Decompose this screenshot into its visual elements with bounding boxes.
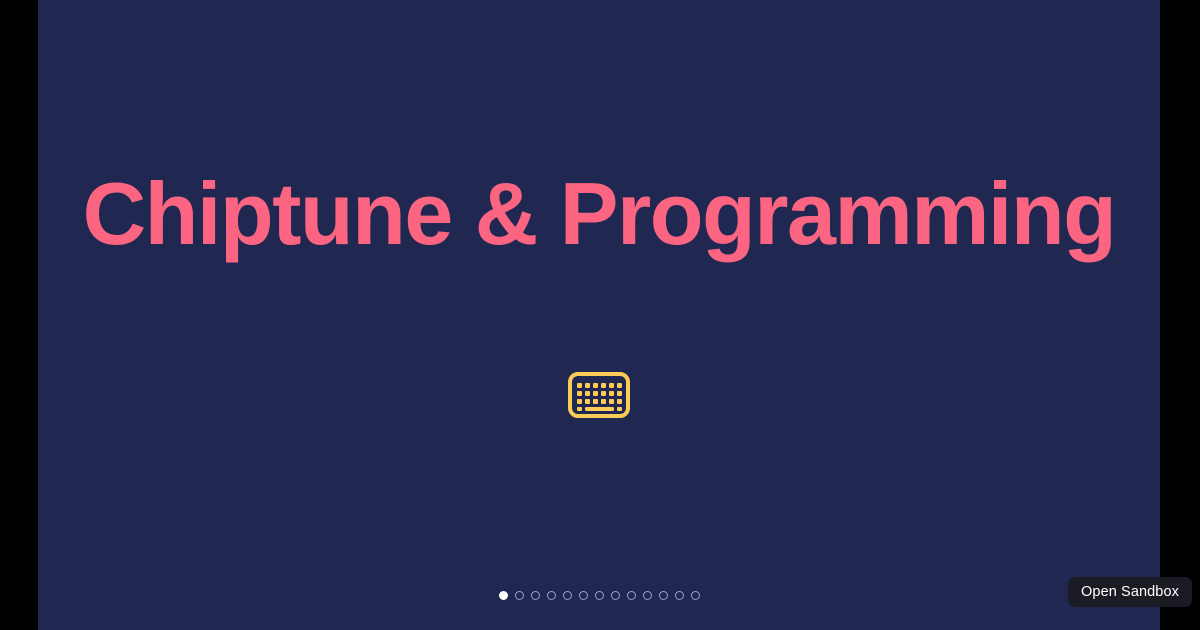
pagination-dot-12[interactable] — [675, 591, 684, 600]
pagination-dot-7[interactable] — [595, 591, 604, 600]
pagination-dot-11[interactable] — [659, 591, 668, 600]
pagination-dot-6[interactable] — [579, 591, 588, 600]
pagination-dot-10[interactable] — [643, 591, 652, 600]
pagination-dot-4[interactable] — [547, 591, 556, 600]
pagination-dot-3[interactable] — [531, 591, 540, 600]
pagination-dot-5[interactable] — [563, 591, 572, 600]
pagination-dot-1[interactable] — [499, 591, 508, 600]
slide-pagination[interactable] — [38, 591, 1160, 600]
slide-canvas[interactable]: Chiptune & Programming — [38, 0, 1160, 630]
title-block: Chiptune & Programming — [38, 168, 1160, 260]
pagination-dot-8[interactable] — [611, 591, 620, 600]
letterbox-left — [0, 0, 38, 630]
pagination-dot-9[interactable] — [627, 591, 636, 600]
slide-emoji-block — [38, 372, 1160, 418]
pagination-dot-2[interactable] — [515, 591, 524, 600]
pagination-dot-13[interactable] — [691, 591, 700, 600]
letterbox-right — [1160, 0, 1200, 630]
open-sandbox-button[interactable]: Open Sandbox — [1068, 577, 1192, 607]
slide-title: Chiptune & Programming — [62, 168, 1136, 260]
keyboard-icon — [568, 372, 630, 418]
presentation-stage: Chiptune & Programming — [0, 0, 1200, 630]
slide-content: Chiptune & Programming — [38, 0, 1160, 630]
